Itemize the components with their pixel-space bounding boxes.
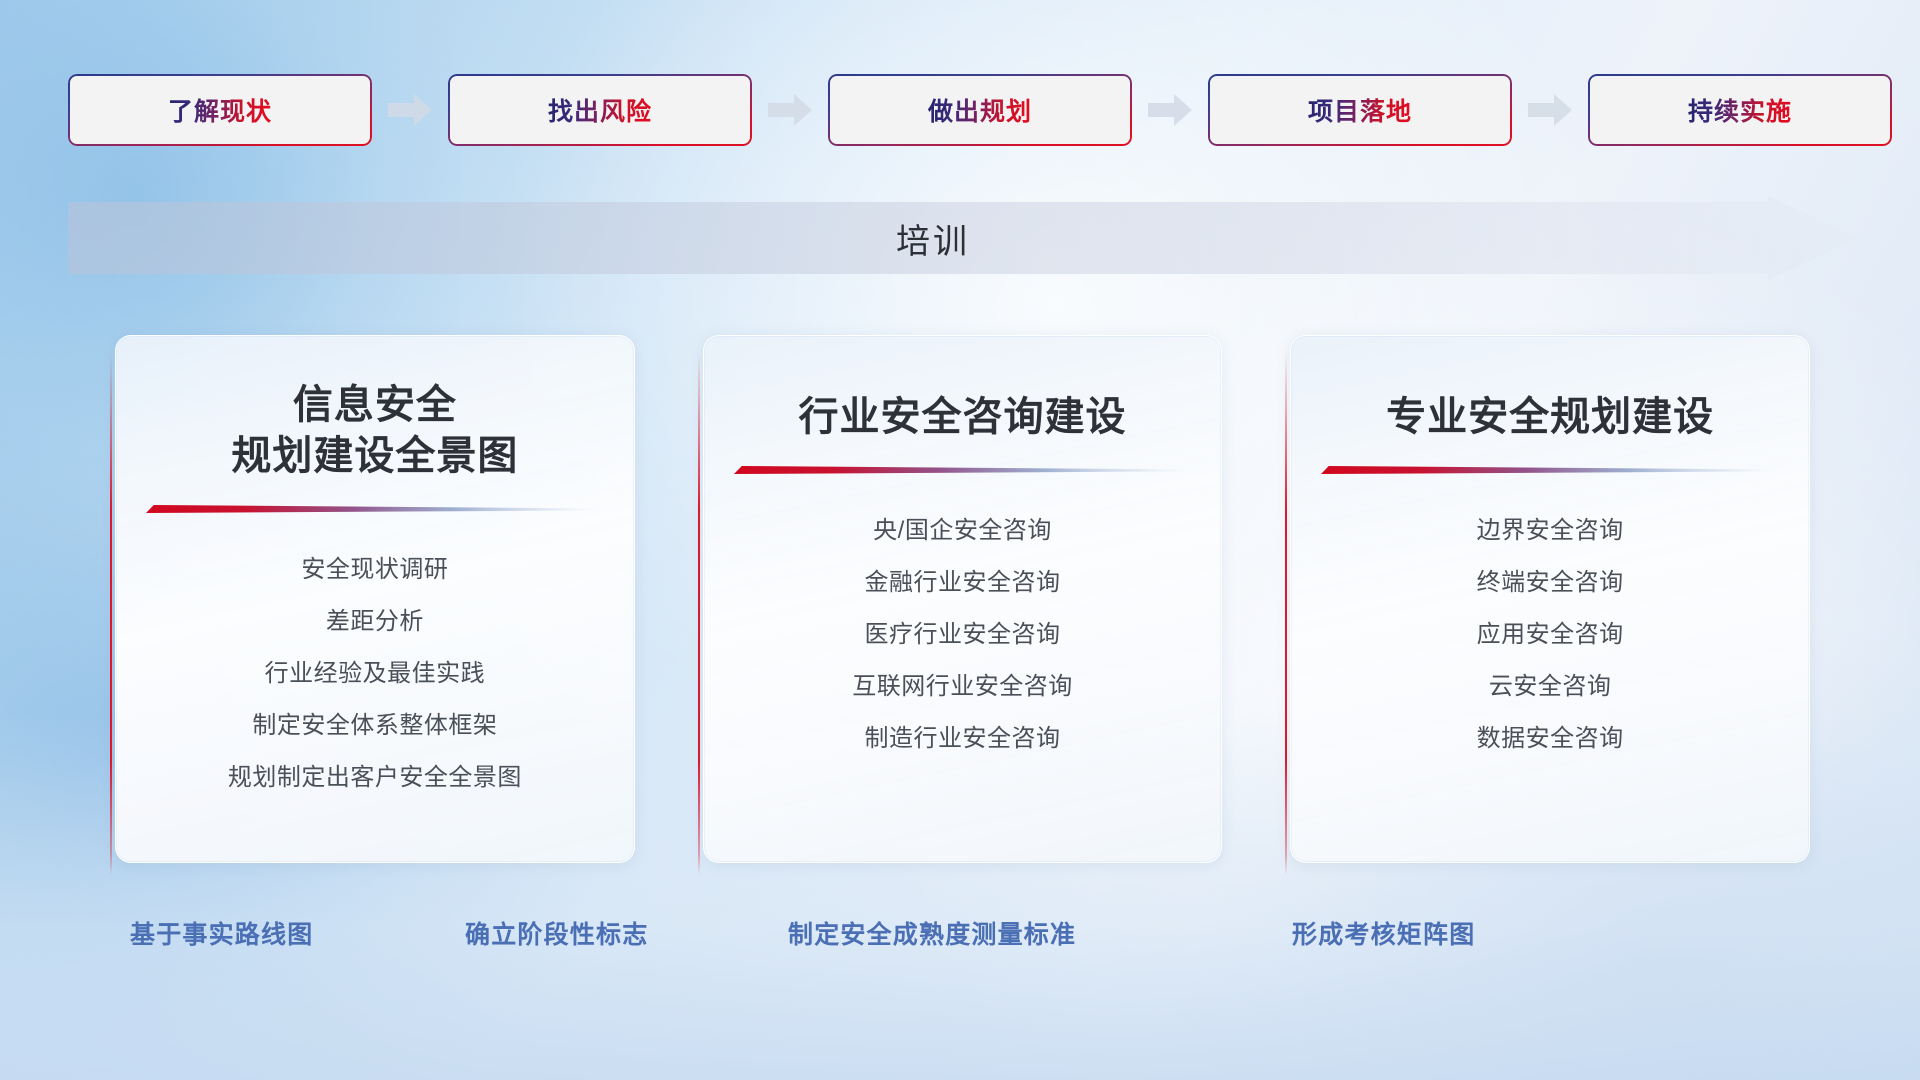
card-list-item: 云安全咨询 [1489,661,1612,713]
card-list-item: 规划制定出客户安全全景图 [228,752,522,804]
card-list-item: 终端安全咨询 [1477,557,1624,609]
right-arrow-icon [1148,94,1192,126]
training-band-label: 培训 [68,196,1798,280]
card-list-item: 数据安全咨询 [1477,713,1624,765]
right-arrow-icon [768,94,812,126]
card-row: 信息安全 规划建设全景图 [110,335,1810,875]
card-information-security-blueprint[interactable]: 信息安全 规划建设全景图 [115,335,635,863]
process-step-4[interactable]: 项目落地 [1208,74,1512,146]
card-item-list: 安全现状调研 差距分析 行业经验及最佳实践 制定安全体系整体框架 规划制定出客户… [116,544,634,804]
card-divider [1321,463,1779,479]
card-divider [734,463,1192,479]
card-item-list: 边界安全咨询 终端安全咨询 应用安全咨询 云安全咨询 数据安全咨询 [1291,505,1809,765]
card-item-list: 央/国企安全咨询 金融行业安全咨询 医疗行业安全咨询 互联网行业安全咨询 制造行… [704,505,1222,765]
training-band: 培训 [68,196,1858,280]
card-list-item: 央/国企安全咨询 [873,505,1052,557]
process-step-label: 持续实施 [1688,92,1792,128]
card-list-item: 差距分析 [326,596,424,648]
card-title: 信息安全 规划建设全景图 [211,380,538,482]
diagram-stage: 了解现状 找出风险 做出规划 项目落地 持续实施 [0,0,1920,1080]
process-step-label: 项目落地 [1308,92,1412,128]
card-title-line: 专业安全规划建设 [1386,392,1714,443]
process-step-label: 做出规划 [928,92,1032,128]
outcome-label-2: 确立阶段性标志 [465,915,648,951]
card-industry-security-consulting[interactable]: 行业安全咨询建设 [703,335,1223,863]
card-wrapper-2: 行业安全咨询建设 [698,335,1223,875]
card-wrapper-1: 信息安全 规划建设全景图 [110,335,635,875]
outcome-label-3: 制定安全成熟度测量标准 [788,915,1076,951]
card-list-item: 边界安全咨询 [1477,505,1624,557]
card-list-item: 医疗行业安全咨询 [865,609,1061,661]
outcome-label-4: 形成考核矩阵图 [1292,915,1475,951]
process-step-label: 找出风险 [548,92,652,128]
right-arrow-icon [1528,94,1572,126]
card-title-line: 行业安全咨询建设 [799,392,1127,443]
process-step-1[interactable]: 了解现状 [68,74,372,146]
card-red-accent-line [698,353,700,875]
process-step-label: 了解现状 [168,92,272,128]
card-divider [146,502,604,518]
outcome-label-row: 基于事实路线图 确立阶段性标志 制定安全成熟度测量标准 形成考核矩阵图 [0,915,1920,963]
card-list-item: 互联网行业安全咨询 [852,661,1073,713]
process-step-row: 了解现状 找出风险 做出规划 项目落地 持续实施 [68,72,1852,148]
card-title-line: 规划建设全景图 [231,431,518,482]
process-step-3[interactable]: 做出规划 [828,74,1132,146]
card-red-accent-line [110,353,112,875]
process-step-5[interactable]: 持续实施 [1588,74,1892,146]
card-list-item: 安全现状调研 [301,544,448,596]
card-list-item: 行业经验及最佳实践 [265,648,486,700]
card-red-accent-line [1285,353,1287,875]
process-step-2[interactable]: 找出风险 [448,74,752,146]
card-wrapper-3: 专业安全规划建设 [1285,335,1810,875]
card-title: 行业安全咨询建设 [779,392,1147,443]
card-list-item: 制定安全体系整体框架 [252,700,497,752]
outcome-label-1: 基于事实路线图 [130,915,313,951]
card-list-item: 制造行业安全咨询 [865,713,1061,765]
card-list-item: 金融行业安全咨询 [865,557,1061,609]
card-title: 专业安全规划建设 [1366,392,1734,443]
right-arrow-icon [388,94,432,126]
card-title-line: 信息安全 [231,380,518,431]
card-professional-security-planning[interactable]: 专业安全规划建设 [1290,335,1810,863]
card-list-item: 应用安全咨询 [1477,609,1624,661]
